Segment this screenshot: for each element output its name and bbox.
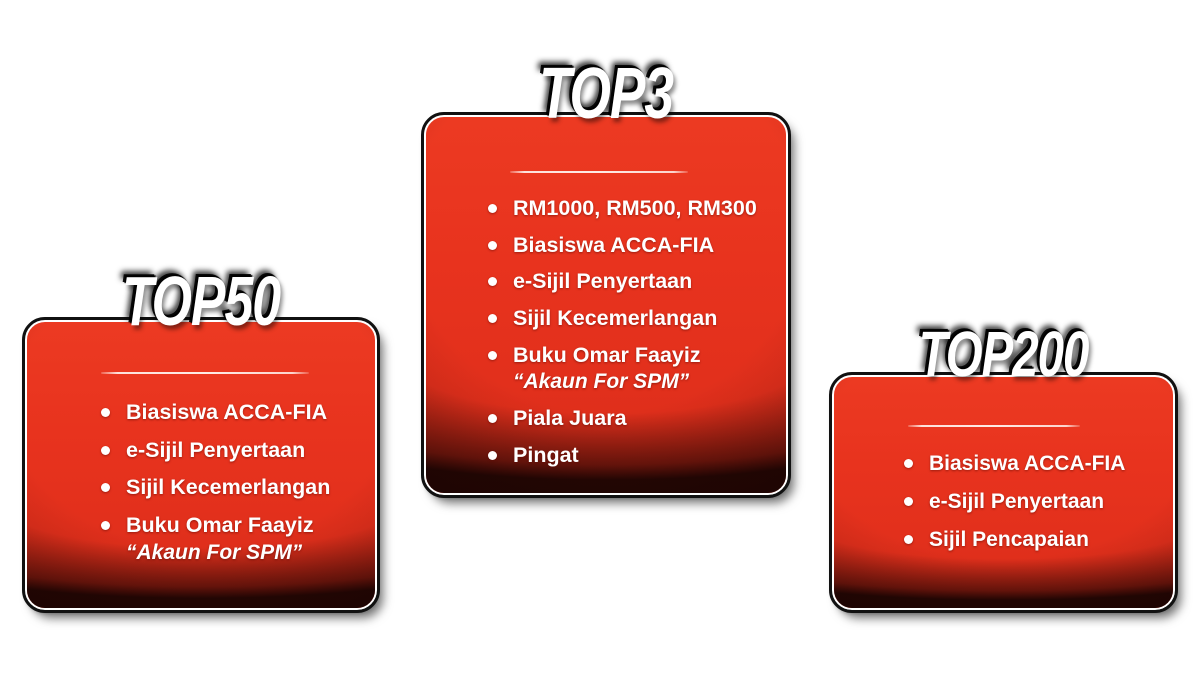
prize-list-top200: Biasiswa ACCA-FIA e-Sijil Penyertaan Sij… bbox=[860, 451, 1147, 565]
card-divider bbox=[510, 171, 688, 173]
prize-tiers-graphic: Biasiswa ACCA-FIA e-Sijil Penyertaan Sij… bbox=[0, 0, 1200, 674]
list-item: e-Sijil Penyertaan bbox=[101, 437, 349, 464]
list-item-label: e-Sijil Penyertaan bbox=[513, 268, 760, 295]
list-item: Pingat bbox=[488, 442, 760, 469]
list-item: Biasiswa ACCA-FIA bbox=[101, 399, 349, 426]
list-item-label: e-Sijil Penyertaan bbox=[126, 437, 349, 464]
list-item: Sijil Kecemerlangan bbox=[101, 474, 349, 501]
list-item: RM1000, RM500, RM300 bbox=[488, 195, 760, 222]
prize-card-top50: Biasiswa ACCA-FIA e-Sijil Penyertaan Sij… bbox=[25, 320, 377, 610]
bullet-icon bbox=[488, 314, 497, 323]
card-divider bbox=[101, 372, 309, 374]
bullet-icon bbox=[101, 446, 110, 455]
list-item: Buku Omar Faayiz “Akaun For SPM” bbox=[488, 342, 760, 396]
list-item: e-Sijil Penyertaan bbox=[904, 489, 1147, 515]
list-item-label: Piala Juara bbox=[513, 405, 760, 432]
prize-card-top200: Biasiswa ACCA-FIA e-Sijil Penyertaan Sij… bbox=[832, 375, 1175, 610]
prize-card-top3: RM1000, RM500, RM300 Biasiswa ACCA-FIA e… bbox=[424, 115, 788, 495]
list-item: Sijil Kecemerlangan bbox=[488, 305, 760, 332]
bullet-icon bbox=[488, 451, 497, 460]
bullet-icon bbox=[101, 408, 110, 417]
bullet-icon bbox=[904, 459, 913, 468]
list-item-label: Pingat bbox=[513, 442, 760, 469]
list-item-label: e-Sijil Penyertaan bbox=[929, 489, 1147, 515]
list-item-label: Biasiswa ACCA-FIA bbox=[126, 399, 349, 426]
list-item: Sijil Pencapaian bbox=[904, 527, 1147, 553]
bullet-icon bbox=[488, 351, 497, 360]
list-item-label: Biasiswa ACCA-FIA bbox=[513, 232, 760, 259]
bullet-icon bbox=[488, 204, 497, 213]
list-item-subtitle: “Akaun For SPM” bbox=[513, 369, 760, 395]
list-item-subtitle: “Akaun For SPM” bbox=[126, 540, 349, 566]
bullet-icon bbox=[488, 241, 497, 250]
card-content-top3: RM1000, RM500, RM300 Biasiswa ACCA-FIA e… bbox=[426, 117, 786, 493]
list-item-label: Buku Omar Faayiz bbox=[126, 512, 349, 539]
card-content-top50: Biasiswa ACCA-FIA e-Sijil Penyertaan Sij… bbox=[27, 322, 375, 608]
card-content-top200: Biasiswa ACCA-FIA e-Sijil Penyertaan Sij… bbox=[834, 377, 1173, 608]
list-item-label: Buku Omar Faayiz bbox=[513, 342, 760, 369]
card-divider bbox=[908, 425, 1080, 427]
bullet-icon bbox=[101, 521, 110, 530]
list-item-label: Sijil Kecemerlangan bbox=[126, 474, 349, 501]
bullet-icon bbox=[488, 414, 497, 423]
card-title-top200: TOP200 bbox=[877, 328, 1131, 382]
bullet-icon bbox=[904, 497, 913, 506]
prize-list-top3: RM1000, RM500, RM300 Biasiswa ACCA-FIA e… bbox=[452, 195, 760, 479]
list-item-label: RM1000, RM500, RM300 bbox=[513, 195, 760, 222]
bullet-icon bbox=[904, 535, 913, 544]
bullet-icon bbox=[101, 483, 110, 492]
list-item-label: Sijil Kecemerlangan bbox=[513, 305, 760, 332]
list-item-label: Biasiswa ACCA-FIA bbox=[929, 451, 1147, 477]
list-item: Biasiswa ACCA-FIA bbox=[488, 232, 760, 259]
prize-list-top50: Biasiswa ACCA-FIA e-Sijil Penyertaan Sij… bbox=[53, 399, 349, 577]
list-item: e-Sijil Penyertaan bbox=[488, 268, 760, 295]
list-item-label: Sijil Pencapaian bbox=[929, 527, 1147, 553]
list-item: Buku Omar Faayiz “Akaun For SPM” bbox=[101, 512, 349, 566]
bullet-icon bbox=[488, 277, 497, 286]
list-item: Biasiswa ACCA-FIA bbox=[904, 451, 1147, 477]
list-item: Piala Juara bbox=[488, 405, 760, 432]
